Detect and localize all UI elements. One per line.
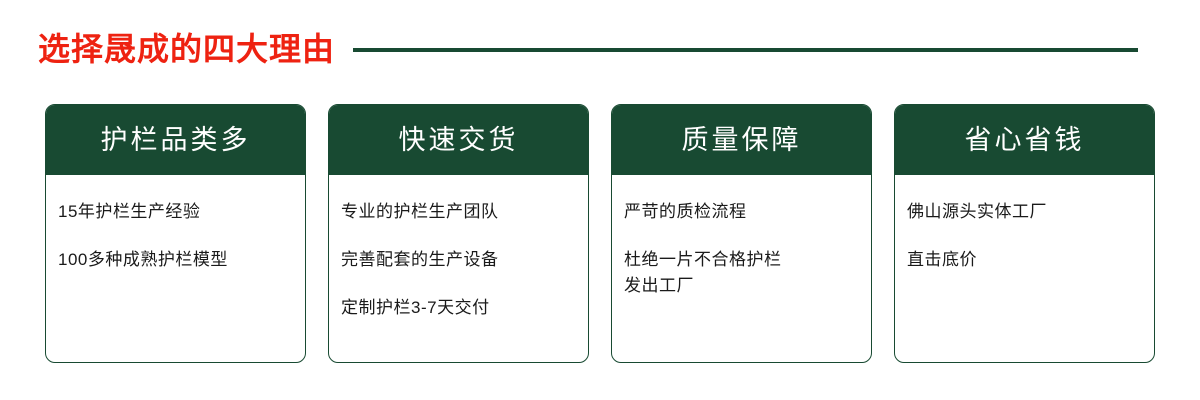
feature-card-2-line-2: 完善配套的生产设备 [341,247,576,273]
feature-card-2-title: 快速交货 [329,105,588,175]
feature-card-3-line-2: 杜绝一片不合格护栏 发出工厂 [624,247,859,299]
feature-card-4-line-2: 直击底价 [907,247,1142,273]
page-title: 选择晟成的四大理由 [38,26,335,72]
feature-card-2-body: 专业的护栏生产团队 完善配套的生产设备 定制护栏3-7天交付 [329,175,588,362]
feature-card-2-line-3: 定制护栏3-7天交付 [341,295,576,321]
feature-card-3-title: 质量保障 [612,105,871,175]
feature-card-4-title: 省心省钱 [895,105,1154,175]
feature-card-1-body: 15年护栏生产经验 100多种成熟护栏模型 [46,175,305,362]
heading-divider-rule [353,48,1138,52]
feature-card-1-title: 护栏品类多 [46,105,305,175]
feature-card-2-line-1: 专业的护栏生产团队 [341,199,576,225]
feature-card-list: 护栏品类多 15年护栏生产经验 100多种成熟护栏模型 快速交货 专业的护栏生产… [45,104,1155,363]
feature-card-1-line-1: 15年护栏生产经验 [58,199,293,225]
feature-card-4: 省心省钱 佛山源头实体工厂 直击底价 [894,104,1155,363]
feature-card-4-line-1: 佛山源头实体工厂 [907,199,1142,225]
feature-card-3-line-1: 严苛的质检流程 [624,199,859,225]
feature-card-1: 护栏品类多 15年护栏生产经验 100多种成熟护栏模型 [45,104,306,363]
feature-card-4-body: 佛山源头实体工厂 直击底价 [895,175,1154,362]
feature-card-1-line-2: 100多种成熟护栏模型 [58,247,293,273]
section-heading: 选择晟成的四大理由 [38,26,1138,72]
promo-banner: 选择晟成的四大理由 护栏品类多 15年护栏生产经验 100多种成熟护栏模型 快速… [0,0,1200,400]
feature-card-3: 质量保障 严苛的质检流程 杜绝一片不合格护栏 发出工厂 [611,104,872,363]
feature-card-2: 快速交货 专业的护栏生产团队 完善配套的生产设备 定制护栏3-7天交付 [328,104,589,363]
feature-card-3-body: 严苛的质检流程 杜绝一片不合格护栏 发出工厂 [612,175,871,362]
